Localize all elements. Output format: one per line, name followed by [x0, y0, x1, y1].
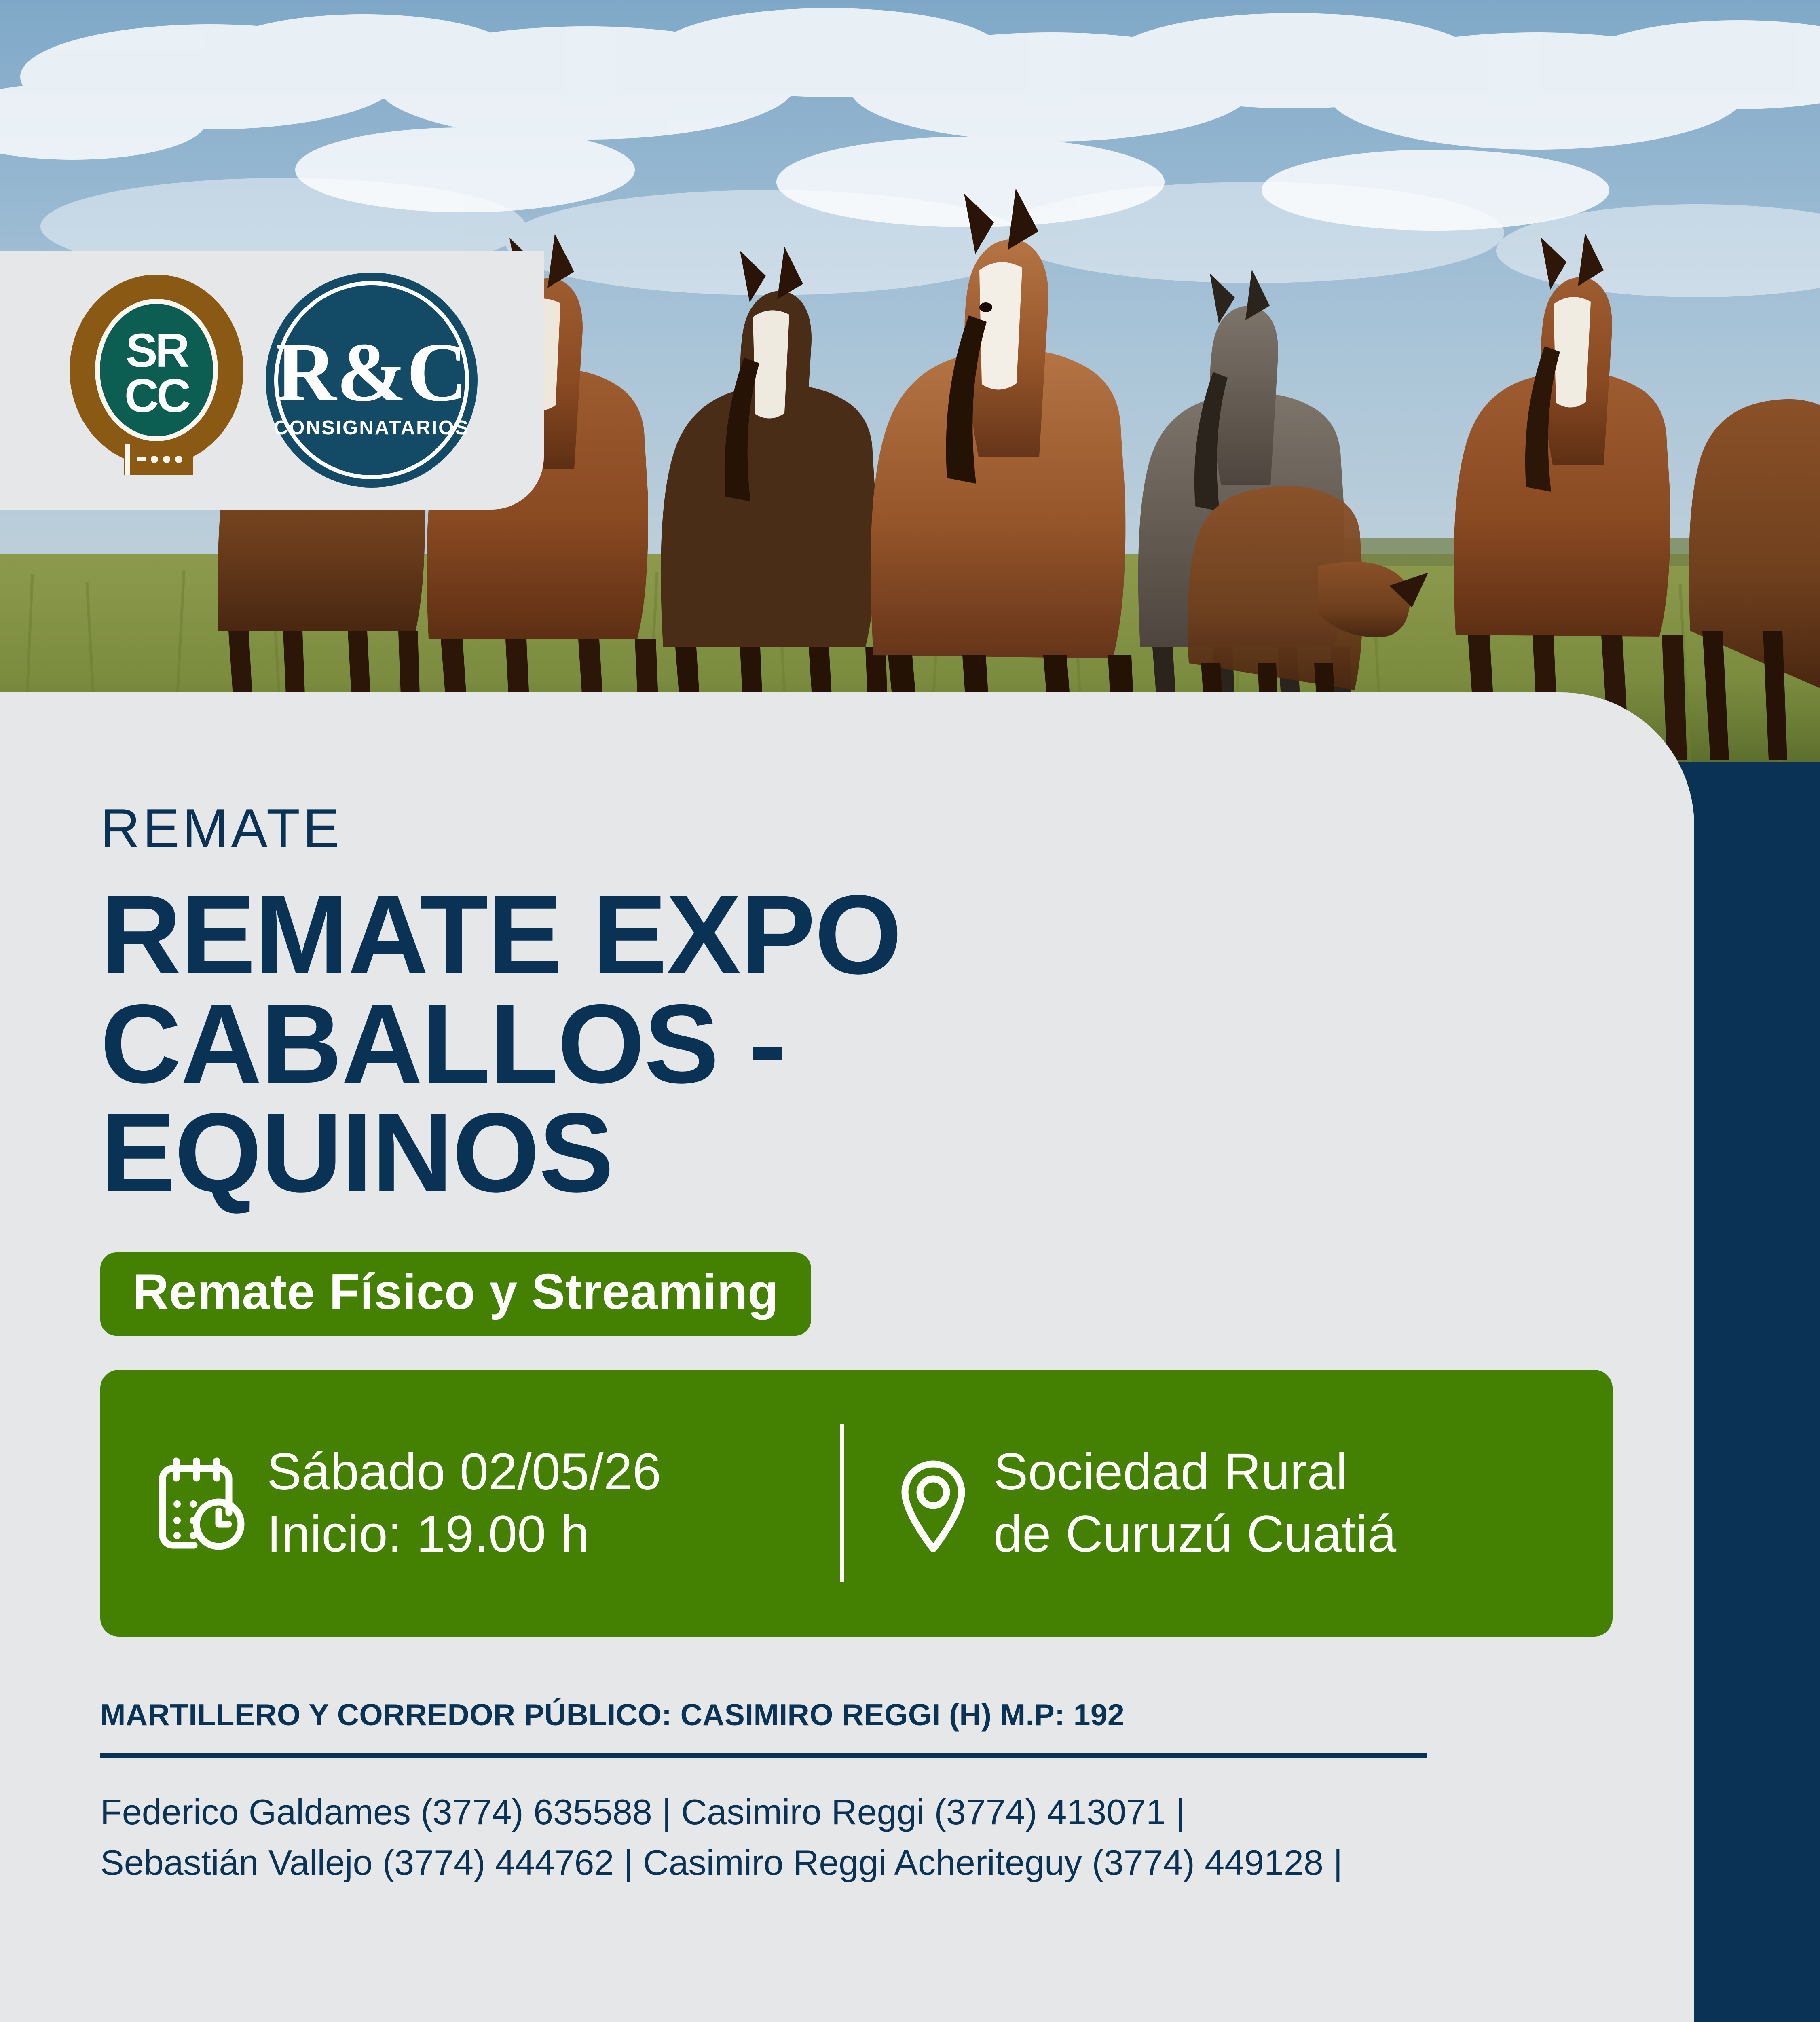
contact-list: Federico Galdames (3774) 635588 | Casimi… [100, 1787, 1516, 1888]
logo-plate: SR CC R&C CONSIGNATARIOS [0, 251, 544, 510]
event-venue-line-1: Sociedad Rural [993, 1443, 1347, 1501]
rc-consignatarios-logo[interactable]: R&C CONSIGNATARIOS [262, 271, 481, 489]
event-venue-block: Sociedad Rural de Curuzú Cuatiá [844, 1441, 1613, 1565]
contact-line: Sebastián Vallejo (3774) 444762 | Casimi… [100, 1838, 1516, 1888]
headline-line-1: REMATE EXPO [100, 880, 1192, 989]
footer-section: MARTILLERO Y CORREDOR PÚBLICO: CASIMIRO … [100, 1697, 1516, 1888]
contact-line: Federico Galdames (3774) 635588 | Casimi… [100, 1787, 1516, 1838]
calendar-clock-icon [152, 1455, 245, 1552]
srcc-logo-mark: SR CC [65, 273, 249, 487]
footer-divider [100, 1753, 1427, 1758]
auctioneer-title: MARTILLERO Y CORREDOR PÚBLICO: CASIMIRO … [100, 1697, 1516, 1732]
event-date-text: Sábado 02/05/26 Inicio: 19.00 h [267, 1441, 661, 1565]
headline-line-3: EQUINOS [100, 1098, 1192, 1207]
event-date-line-1: Sábado 02/05/26 [267, 1443, 661, 1501]
page-title: REMATE EXPO CABALLOS - EQUINOS [100, 880, 1192, 1207]
svg-text:CC: CC [125, 369, 190, 423]
modality-badge: Remate Físico y Streaming [100, 1252, 811, 1336]
event-venue-line-2: de Curuzú Cuatiá [993, 1505, 1396, 1563]
location-pin-icon [895, 1453, 972, 1554]
rc-logo-mark: R&C CONSIGNATARIOS [262, 271, 481, 489]
headline-line-2: CABALLOS - [100, 989, 1192, 1098]
event-venue-text: Sociedad Rural de Curuzú Cuatiá [993, 1441, 1396, 1565]
info-divider [840, 1424, 844, 1582]
poster-content: REMATE REMATE EXPO CABALLOS - EQUINOS Re… [100, 801, 1516, 1888]
svg-text:CONSIGNATARIOS: CONSIGNATARIOS [274, 417, 469, 439]
event-date-line-2: Inicio: 19.00 h [267, 1505, 589, 1563]
eyebrow-label: REMATE [100, 801, 1516, 856]
event-info-bar: Sábado 02/05/26 Inicio: 19.00 h Sociedad… [100, 1370, 1613, 1637]
srcc-logo[interactable]: SR CC [65, 273, 249, 487]
event-date-block: Sábado 02/05/26 Inicio: 19.00 h [100, 1441, 840, 1565]
svg-text:R&C: R&C [276, 326, 467, 419]
